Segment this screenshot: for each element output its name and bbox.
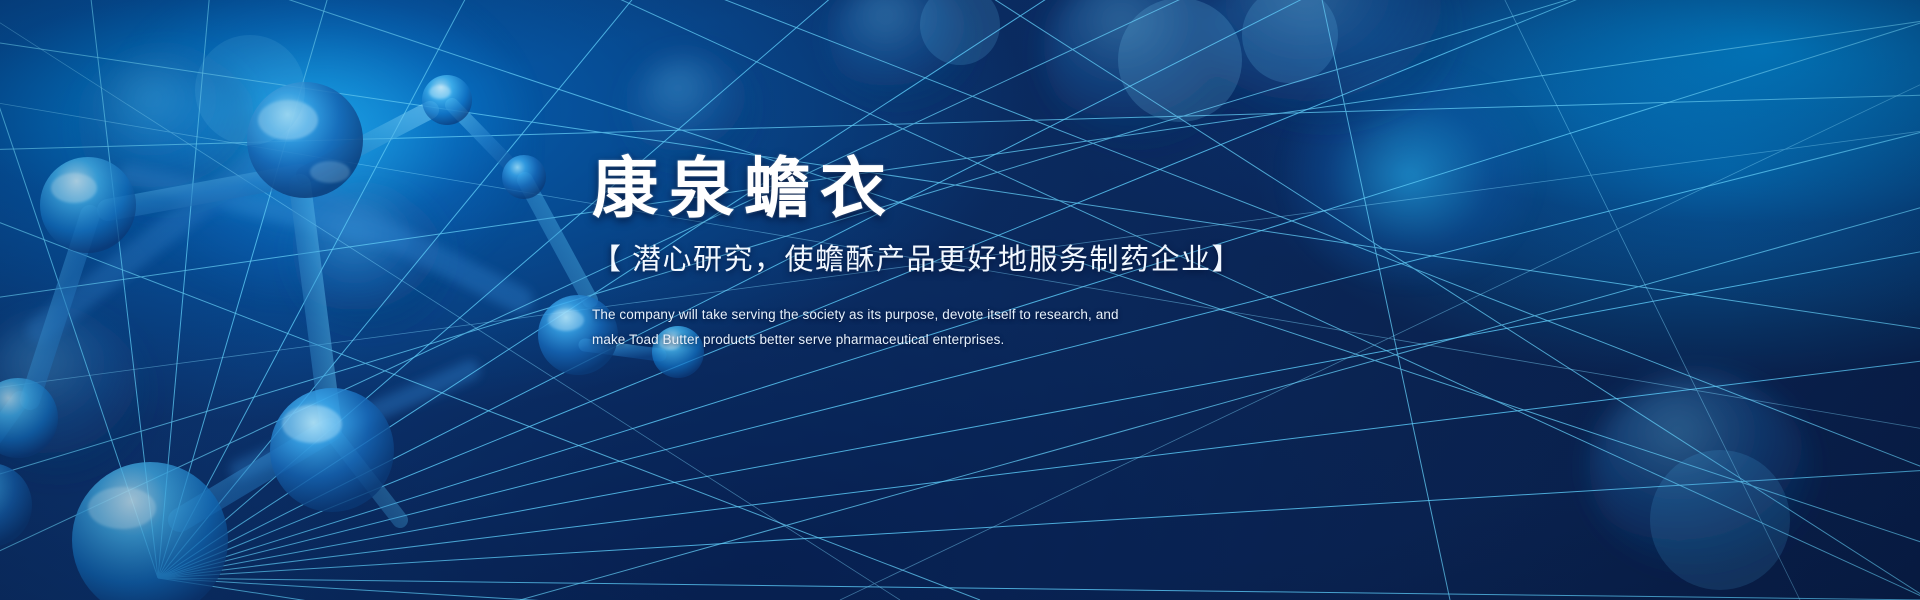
english-line-2: make Toad Butter products better serve p… [592, 327, 1292, 352]
banner-english-description: The company will take serving the societ… [592, 302, 1292, 352]
banner-title: 康泉蟾衣 [592, 150, 1292, 228]
banner-text-block: 康泉蟾衣 【 潜心研究，使蟾酥产品更好地服务制药企业】 The company … [592, 150, 1292, 352]
english-line-1: The company will take serving the societ… [592, 302, 1292, 327]
hero-banner: 康泉蟾衣 【 潜心研究，使蟾酥产品更好地服务制药企业】 The company … [0, 0, 1920, 600]
banner-subtitle: 【 潜心研究，使蟾酥产品更好地服务制药企业】 [592, 242, 1292, 280]
